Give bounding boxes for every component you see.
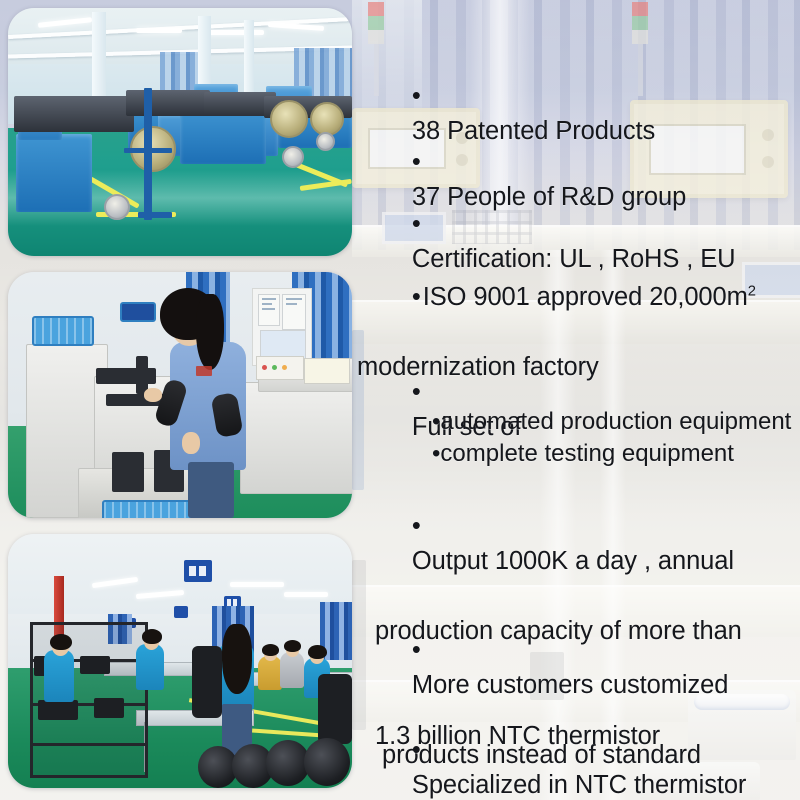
photo1-stand-base: [138, 212, 172, 218]
bullet-marker: •: [412, 636, 421, 664]
photo2-uniform-logo: [196, 366, 212, 376]
photo1-tape-spool: [270, 100, 308, 138]
photo3-worker-body: [136, 644, 164, 690]
bullet-text-line1: Specialized in NTC thermistor: [412, 771, 746, 799]
photo2-machine-right: [240, 382, 352, 494]
photo3-worker-hair: [142, 629, 162, 644]
photo2-machine-part: [112, 452, 144, 492]
photo3-wall-sign: [174, 606, 188, 618]
photo2-control-panel: [256, 356, 304, 380]
photo2-worker-ponytail: [196, 294, 224, 370]
photo1-machine: [180, 108, 266, 164]
photo1-stand-post: [144, 88, 152, 220]
photo3-worker-body: [280, 652, 304, 688]
photo2-worker-jeans: [188, 462, 234, 518]
photo2-blue-crate: [32, 316, 94, 346]
photo1-stand-arm: [124, 148, 172, 153]
photo-assembly-line-workers: [8, 534, 352, 788]
photo1-machine: [16, 134, 92, 212]
photo3-wall-sign: [184, 560, 212, 582]
bullet-text-line1: Output 1000K a day , annual: [412, 547, 734, 575]
photo3-ceiling-light: [230, 582, 284, 587]
photo2-worker-hand: [182, 432, 200, 454]
photo3-worker-hair: [262, 644, 279, 656]
photo1-ceiling-light: [136, 28, 182, 33]
bullet-marker: •: [412, 283, 421, 311]
photo2-control-panel: [304, 358, 350, 384]
photo3-worker-hair: [308, 645, 327, 659]
photo-column: [0, 0, 356, 800]
bullet-marker: •: [412, 512, 421, 540]
square-meter-superscript: 2: [748, 284, 756, 300]
photo1-wire-reel: [282, 146, 304, 168]
photo2-worker-hand: [144, 388, 162, 402]
photo3-dark-bundle: [192, 646, 222, 718]
photo3-rack-item: [38, 700, 78, 720]
photo1-ceiling-light: [204, 30, 264, 35]
photo3-worker-hair: [284, 640, 301, 652]
photo-worker-operating-machine: [8, 272, 352, 518]
bullet-list: • 38 Patented Products • 37 People of R&…: [360, 0, 800, 800]
photo3-worker-hair: [222, 624, 252, 694]
photo-factory-production-floor: [8, 8, 352, 256]
photo1-pillar: [244, 20, 254, 102]
photo1-tape-spool: [310, 102, 344, 136]
photo1-mechanism: [14, 96, 134, 132]
photo3-worker-body: [258, 656, 282, 690]
sub-bullet-text: complete testing equipment: [440, 440, 734, 467]
bullet-marker: •: [412, 210, 421, 238]
photo3-rack-item: [80, 656, 110, 674]
slide-canvas: • 38 Patented Products • 37 People of R&…: [0, 0, 800, 800]
photo2-notice-sheet: [282, 294, 306, 330]
photo3-ceiling-light: [284, 592, 328, 597]
photo2-blue-panel: [120, 302, 156, 322]
bullet-marker: •: [412, 82, 421, 110]
photo3-worker-hair: [50, 634, 72, 650]
photo2-notice-sheet: [258, 294, 280, 326]
photo3-worker-body: [44, 650, 74, 702]
photo2-blue-tray: [102, 500, 198, 518]
photo1-wire-reel: [316, 132, 335, 151]
photo1-wire-reel: [104, 194, 130, 220]
bullet-text-line1: ISO 9001 approved 20,000m: [423, 283, 748, 311]
bullet-text-line1: More customers customized: [412, 671, 728, 699]
photo3-dark-bundle: [318, 674, 352, 744]
photo3-cable-drum: [304, 738, 350, 786]
photo1-mechanism: [126, 90, 210, 116]
bullet-item-specialized-ntc: • Specialized in NTC thermistor for 21 y…: [370, 698, 746, 800]
bullet-marker: •: [412, 736, 421, 764]
photo3-rack-item: [94, 698, 124, 718]
